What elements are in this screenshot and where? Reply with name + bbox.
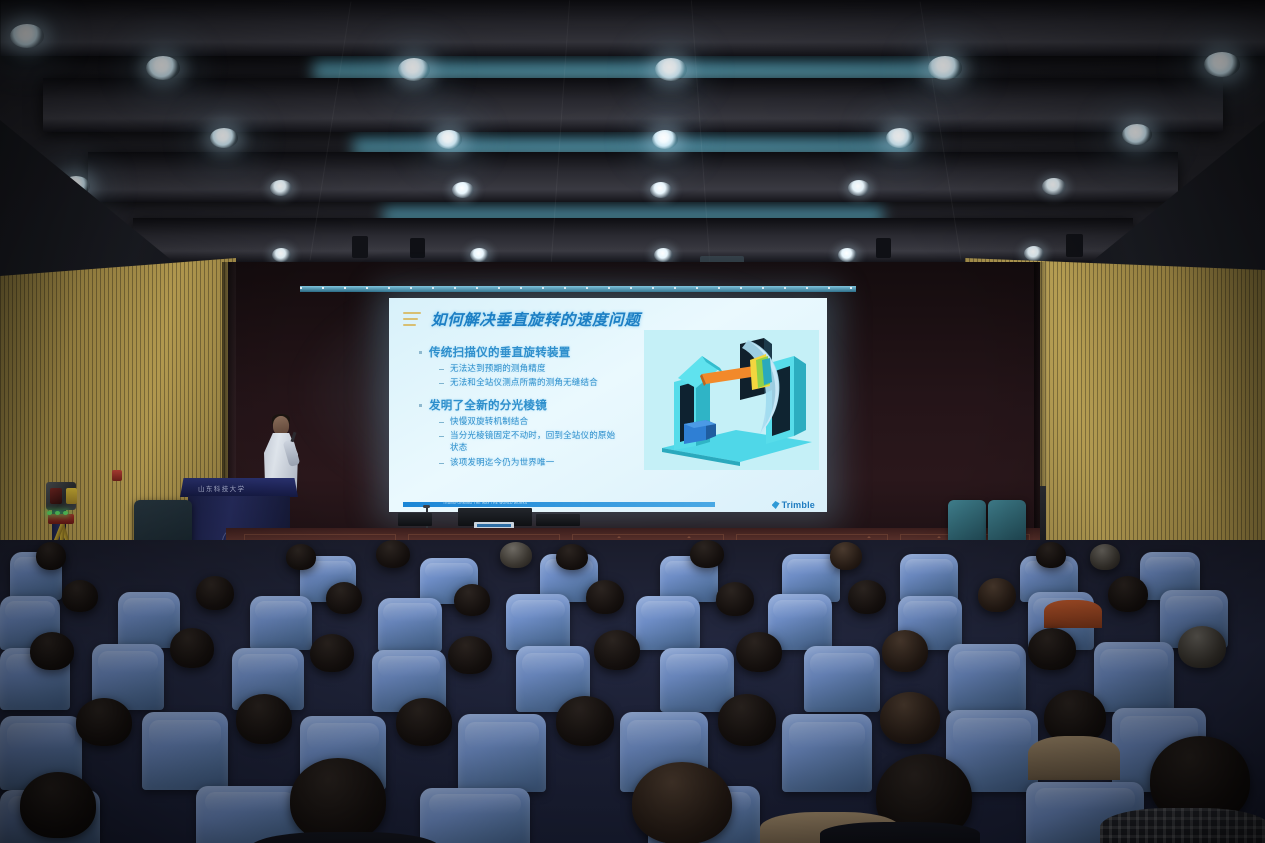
audience-head bbox=[736, 632, 782, 672]
audience-head bbox=[978, 578, 1016, 612]
sub-bullet-text: 无法达到预期的测角精度 bbox=[450, 362, 546, 374]
seat[interactable] bbox=[900, 554, 958, 602]
ceiling-downlight bbox=[654, 248, 673, 262]
audience-head bbox=[500, 542, 532, 568]
title-decoration-lines bbox=[403, 312, 421, 326]
audience-head bbox=[454, 584, 490, 616]
presentation-tech-table bbox=[398, 500, 588, 530]
presenter-head bbox=[273, 416, 289, 435]
bullet-text: 传统扫描仪的垂直旋转装置 bbox=[429, 344, 571, 360]
audience-head bbox=[196, 576, 234, 610]
audience-head bbox=[632, 762, 732, 843]
scanner-status-leds bbox=[47, 510, 75, 515]
audience-shoulders bbox=[1100, 808, 1265, 843]
ceiling-downlight bbox=[928, 56, 962, 80]
audience-head bbox=[716, 582, 754, 616]
audience-head bbox=[36, 542, 66, 570]
audience-head bbox=[20, 772, 96, 838]
audience-head bbox=[1178, 626, 1226, 668]
ceiling-downlight bbox=[452, 182, 474, 198]
audience-head bbox=[30, 632, 74, 670]
ceiling-downlight bbox=[655, 58, 687, 81]
sub-bullet-text: 快慢双旋转机制结合 bbox=[450, 415, 528, 427]
slide-title: 如何解决垂直旋转的速度问题 bbox=[431, 308, 640, 330]
audience-head bbox=[376, 540, 410, 568]
audience-head bbox=[586, 580, 624, 614]
audience-head bbox=[396, 698, 452, 746]
ceiling bbox=[0, 0, 1265, 300]
seat[interactable] bbox=[804, 646, 880, 712]
seat[interactable] bbox=[948, 644, 1026, 712]
audience-head bbox=[830, 542, 862, 570]
ceiling-downlight bbox=[652, 130, 678, 149]
ceiling-downlight bbox=[1204, 52, 1240, 77]
podium-institution-text: 山东科技大学 bbox=[198, 483, 245, 493]
audience-shoulders bbox=[820, 822, 980, 843]
audience-head bbox=[882, 630, 928, 672]
scanner-beam-splitter-diagram bbox=[644, 330, 819, 470]
seat[interactable] bbox=[782, 714, 872, 792]
slide-bullet-level2: 快慢双旋转机制结合 bbox=[439, 415, 619, 427]
seat[interactable] bbox=[660, 648, 734, 712]
seat[interactable] bbox=[142, 712, 228, 790]
slide-bullet-level2: 无法达到预期的测角精度 bbox=[439, 362, 619, 374]
ceiling-speaker bbox=[410, 238, 425, 258]
ceiling-downlight bbox=[146, 56, 180, 80]
audience-head bbox=[170, 628, 214, 668]
trimble-wordmark: Trimble bbox=[782, 500, 815, 510]
seat[interactable] bbox=[378, 598, 442, 652]
dash-marker bbox=[439, 436, 444, 437]
seat[interactable] bbox=[636, 596, 700, 650]
audience-head bbox=[1090, 544, 1120, 570]
scanner-lens bbox=[50, 488, 62, 504]
seat[interactable] bbox=[250, 596, 312, 650]
auditorium-scene: 如何解决垂直旋转的速度问题 传统扫描仪的垂直旋转装置 无法达到预期的测角精度 无… bbox=[0, 0, 1265, 843]
ceiling-downlight bbox=[838, 248, 857, 262]
podium-top: 山东科技大学 bbox=[180, 478, 298, 497]
seat[interactable] bbox=[506, 594, 570, 650]
audience-head bbox=[848, 580, 886, 614]
slide-bullet-level1: 发明了全新的分光棱镜 bbox=[419, 397, 619, 413]
ceiling-downlight bbox=[1024, 246, 1044, 261]
bullet-text: 发明了全新的分光棱镜 bbox=[429, 397, 547, 413]
audience-head bbox=[594, 630, 640, 670]
ceiling-downlight bbox=[398, 58, 430, 81]
audience-head bbox=[236, 694, 292, 744]
scanner-mount bbox=[48, 514, 74, 524]
audience-head bbox=[690, 540, 724, 568]
audience-head bbox=[310, 634, 354, 672]
audience-head bbox=[286, 544, 316, 570]
audience-head bbox=[1028, 628, 1076, 670]
audience-head bbox=[326, 582, 362, 614]
podium-indicator-light bbox=[112, 470, 122, 481]
sub-bullet-text: 该项发明迄今仍为世界唯一 bbox=[450, 456, 554, 468]
ceiling-speaker bbox=[876, 238, 891, 258]
dash-marker bbox=[439, 383, 444, 384]
microphone-head-icon bbox=[423, 505, 430, 508]
ceiling-downlight bbox=[210, 128, 238, 148]
trimble-mark-icon bbox=[772, 501, 780, 509]
audience-head bbox=[290, 758, 386, 842]
ceiling-downlight bbox=[272, 248, 291, 262]
ceiling-downlight bbox=[436, 130, 462, 149]
ceiling-speaker bbox=[352, 236, 368, 258]
audience-area bbox=[0, 540, 1265, 843]
audience-head bbox=[880, 692, 940, 744]
ceiling-downlight bbox=[848, 180, 870, 196]
scanner-panel bbox=[66, 488, 77, 504]
audience-head bbox=[76, 698, 132, 746]
dash-marker bbox=[439, 369, 444, 370]
audience-head bbox=[556, 696, 614, 746]
audience-head bbox=[1036, 542, 1066, 568]
projected-slide[interactable]: 如何解决垂直旋转的速度问题 传统扫描仪的垂直旋转装置 无法达到预期的测角精度 无… bbox=[389, 298, 827, 512]
bullet-marker bbox=[419, 351, 422, 354]
dash-marker bbox=[439, 463, 444, 464]
handheld-microphone bbox=[291, 432, 297, 442]
slide-bullet-level1: 传统扫描仪的垂直旋转装置 bbox=[419, 344, 619, 360]
slide-bullet-level2: 无法和全站仪测点所需的测角无缝结合 bbox=[439, 376, 619, 388]
audience-shoulders bbox=[1044, 600, 1102, 628]
laptop[interactable] bbox=[536, 514, 580, 526]
ceiling-downlight bbox=[1042, 178, 1066, 195]
bullet-marker bbox=[419, 404, 422, 407]
seat[interactable] bbox=[420, 788, 530, 843]
ceiling-downlight bbox=[886, 128, 914, 148]
slide-bullet-level2: 当分光棱镜固定不动时，回到全站仪的原始状态 bbox=[439, 429, 619, 454]
audience-head bbox=[448, 636, 492, 674]
audience-head bbox=[62, 580, 98, 612]
seat[interactable] bbox=[458, 714, 546, 792]
slide-bullet-list: 传统扫描仪的垂直旋转装置 无法达到预期的测角精度 无法和全站仪测点所需的测角无缝… bbox=[419, 340, 619, 470]
laptop[interactable] bbox=[398, 513, 432, 526]
audience-shoulders bbox=[1028, 736, 1120, 780]
audience-head bbox=[718, 694, 776, 746]
ceiling-downlight bbox=[270, 180, 292, 196]
ceiling-downlight bbox=[10, 24, 44, 48]
audience-head bbox=[1108, 576, 1148, 612]
ceiling-downlight bbox=[470, 248, 489, 262]
ceiling-downlight bbox=[1122, 124, 1152, 145]
sub-bullet-text: 当分光棱镜固定不动时，回到全站仪的原始状态 bbox=[450, 429, 619, 454]
dash-marker bbox=[439, 422, 444, 423]
trimble-logo: Trimble bbox=[772, 500, 815, 510]
seat[interactable] bbox=[1094, 642, 1174, 712]
audience-head bbox=[556, 544, 588, 570]
ceiling-downlight bbox=[650, 182, 672, 198]
sub-bullet-text: 无法和全站仪测点所需的测角无缝结合 bbox=[450, 376, 598, 388]
ceiling-speaker bbox=[1066, 234, 1083, 257]
screen-top-rail bbox=[300, 286, 856, 292]
slide-bullet-level2: 该项发明迄今仍为世界唯一 bbox=[439, 456, 619, 468]
